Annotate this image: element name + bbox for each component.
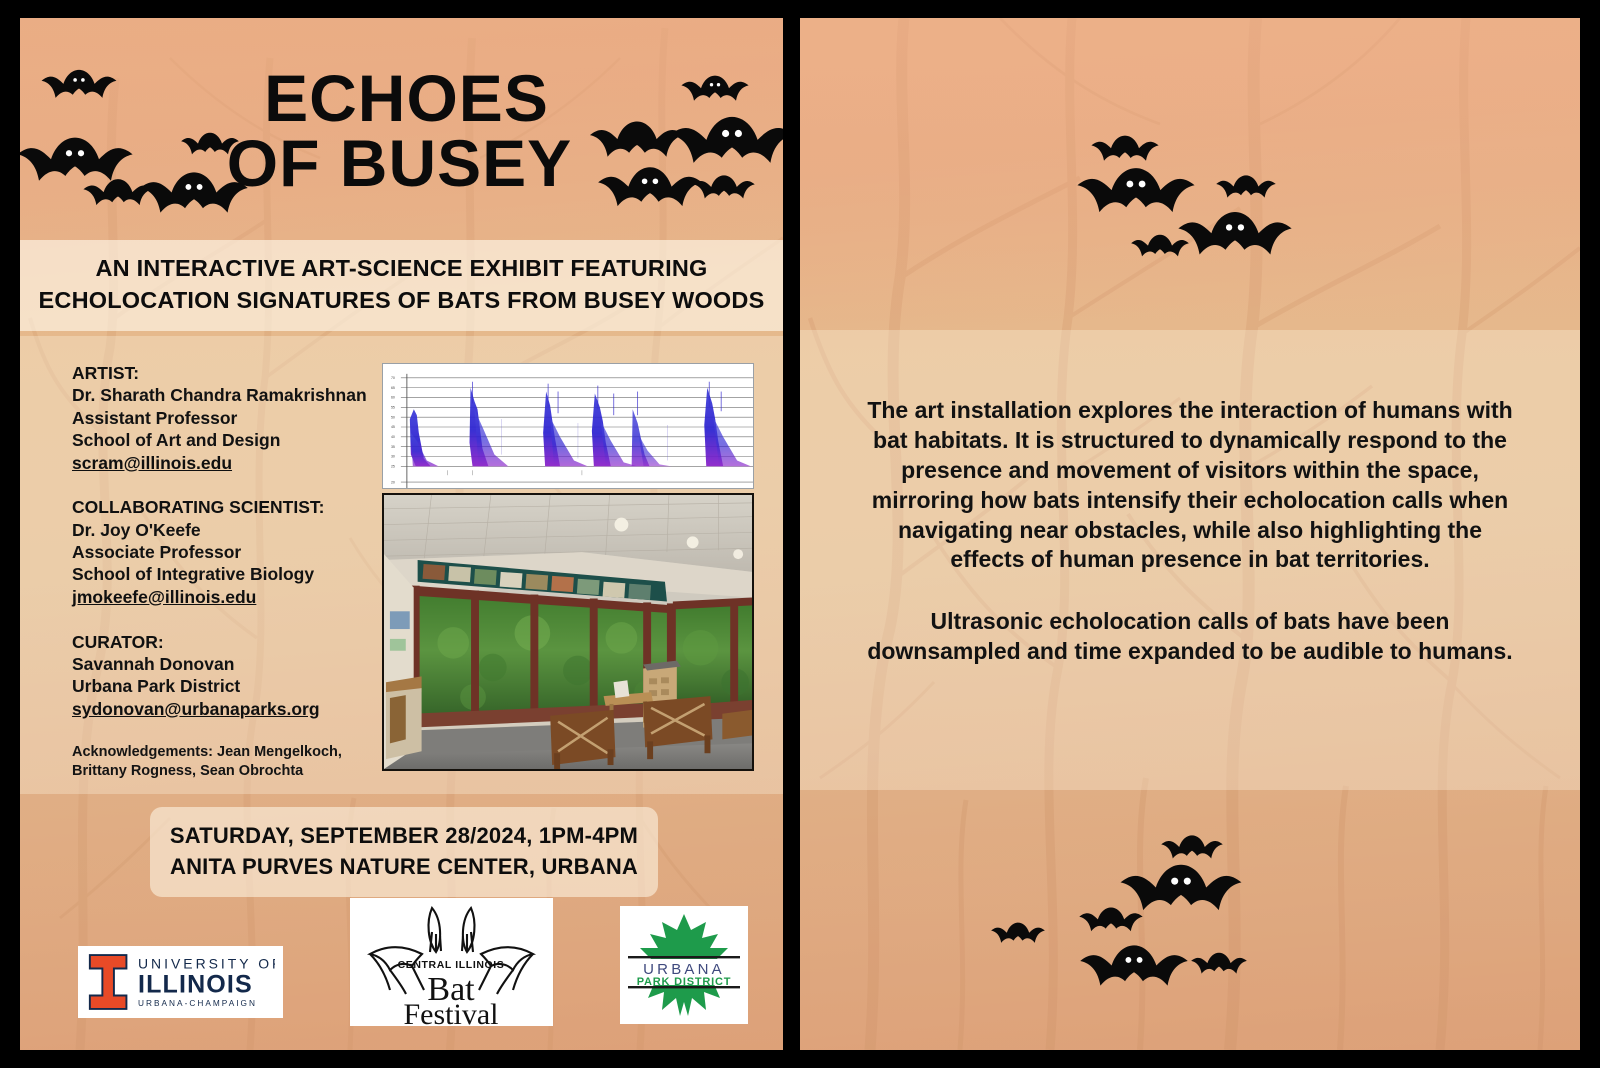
logo-central-illinois-bat-festival[interactable]: CENTRAL ILLINOIS Bat Festival bbox=[350, 898, 553, 1026]
bat-icon bbox=[1176, 202, 1294, 274]
scientist-unit: School of Integrative Biology bbox=[72, 563, 372, 585]
scientist-heading: COLLABORATING SCIENTIST: bbox=[72, 496, 372, 518]
curator-name: Savannah Donovan bbox=[72, 653, 372, 675]
description-paragraph-2: Ultrasonic echolocation calls of bats ha… bbox=[860, 607, 1520, 667]
subtitle-band: AN INTERACTIVE ART-SCIENCE EXHIBIT FEATU… bbox=[20, 240, 783, 331]
credits-column: ARTIST: Dr. Sharath Chandra Ramakrishnan… bbox=[72, 362, 372, 781]
acknowledgements-line-2: Brittany Rogness, Sean Obrochta bbox=[72, 762, 372, 781]
svg-text:25: 25 bbox=[391, 465, 395, 469]
event-venue: ANITA PURVES NATURE CENTER, URBANA bbox=[160, 851, 648, 882]
bat-icon bbox=[596, 158, 704, 224]
echolocation-spectrogram-chart: 7065 6055 5045 4035 3025 20 bbox=[382, 363, 754, 489]
svg-text:65: 65 bbox=[391, 386, 395, 390]
artist-name: Dr. Sharath Chandra Ramakrishnan bbox=[72, 384, 372, 406]
svg-text:35: 35 bbox=[391, 445, 395, 449]
curator-email-link[interactable]: sydonovan@urbanaparks.org bbox=[72, 698, 320, 721]
bat-icon bbox=[40, 63, 118, 111]
poster-root: ECHOES OF BUSEY AN INTERACTIVE ART-SCIEN… bbox=[0, 0, 1600, 1068]
artist-email-link[interactable]: scram@illinois.edu bbox=[72, 452, 232, 475]
bat-icon bbox=[180, 128, 240, 164]
event-date: SATURDAY, SEPTEMBER 28/2024, 1PM-4PM bbox=[160, 820, 648, 851]
artist-unit: School of Art and Design bbox=[72, 429, 372, 451]
nature-center-photo bbox=[382, 493, 754, 771]
left-panel: ECHOES OF BUSEY AN INTERACTIVE ART-SCIEN… bbox=[20, 18, 783, 1050]
logo-university-of-illinois[interactable]: UNIVERSITY OF ILLINOIS URBANA-CHAMPAIGN bbox=[78, 946, 283, 1018]
svg-text:60: 60 bbox=[391, 396, 395, 400]
bat-icon bbox=[1078, 936, 1190, 1004]
illinois-line-1-text: UNIVERSITY OF bbox=[138, 956, 275, 972]
svg-text:30: 30 bbox=[391, 455, 395, 459]
svg-text:50: 50 bbox=[391, 415, 395, 419]
acknowledgements-line-1: Acknowledgements: Jean Mengelkoch, bbox=[72, 743, 372, 762]
right-panel: The art installation explores the intera… bbox=[800, 18, 1580, 1050]
bat-icon bbox=[1130, 230, 1190, 266]
acknowledgements: Acknowledgements: Jean Mengelkoch, Britt… bbox=[72, 743, 372, 781]
svg-text:40: 40 bbox=[391, 435, 395, 439]
illinois-line-3-text: URBANA-CHAMPAIGN bbox=[138, 999, 257, 1008]
svg-text:20: 20 bbox=[391, 480, 395, 484]
subtitle-line-1: AN INTERACTIVE ART-SCIENCE EXHIBIT FEATU… bbox=[38, 252, 765, 284]
curator-heading: CURATOR: bbox=[72, 631, 372, 653]
scientist-email-link[interactable]: jmokeefe@illinois.edu bbox=[72, 586, 256, 609]
bat-icon bbox=[138, 163, 250, 231]
credit-group-curator: CURATOR: Savannah Donovan Urbana Park Di… bbox=[72, 631, 372, 721]
bat-icon bbox=[692, 170, 756, 209]
svg-text:70: 70 bbox=[391, 376, 395, 380]
bat-icon bbox=[1190, 948, 1248, 983]
svg-text:45: 45 bbox=[391, 425, 395, 429]
credit-group-artist: ARTIST: Dr. Sharath Chandra Ramakrishnan… bbox=[72, 362, 372, 474]
description-paragraph-1: The art installation explores the intera… bbox=[860, 396, 1520, 575]
scientist-title: Associate Professor bbox=[72, 541, 372, 563]
logo-urbana-park-district[interactable]: URBANA PARK DISTRICT bbox=[620, 906, 748, 1024]
curator-unit: Urbana Park District bbox=[72, 675, 372, 697]
bat-icon bbox=[990, 918, 1046, 952]
subtitle-line-2: ECHOLOCATION SIGNATURES OF BATS FROM BUS… bbox=[38, 284, 765, 316]
event-details-banner: SATURDAY, SEPTEMBER 28/2024, 1PM-4PM ANI… bbox=[150, 807, 658, 897]
installation-description: The art installation explores the intera… bbox=[860, 396, 1520, 667]
credit-group-scientist: COLLABORATING SCIENTIST: Dr. Joy O'Keefe… bbox=[72, 496, 372, 608]
illinois-line-2-text: ILLINOIS bbox=[138, 971, 253, 999]
scientist-name: Dr. Joy O'Keefe bbox=[72, 519, 372, 541]
batfest-line-3-text: Festival bbox=[404, 998, 499, 1026]
urbanapd-line-2-text: PARK DISTRICT bbox=[637, 976, 732, 988]
batfest-line-1-text: CENTRAL ILLINOIS bbox=[398, 959, 505, 971]
svg-text:55: 55 bbox=[391, 405, 395, 409]
block-i-icon bbox=[86, 952, 130, 1012]
artist-heading: ARTIST: bbox=[72, 362, 372, 384]
artist-title: Assistant Professor bbox=[72, 407, 372, 429]
